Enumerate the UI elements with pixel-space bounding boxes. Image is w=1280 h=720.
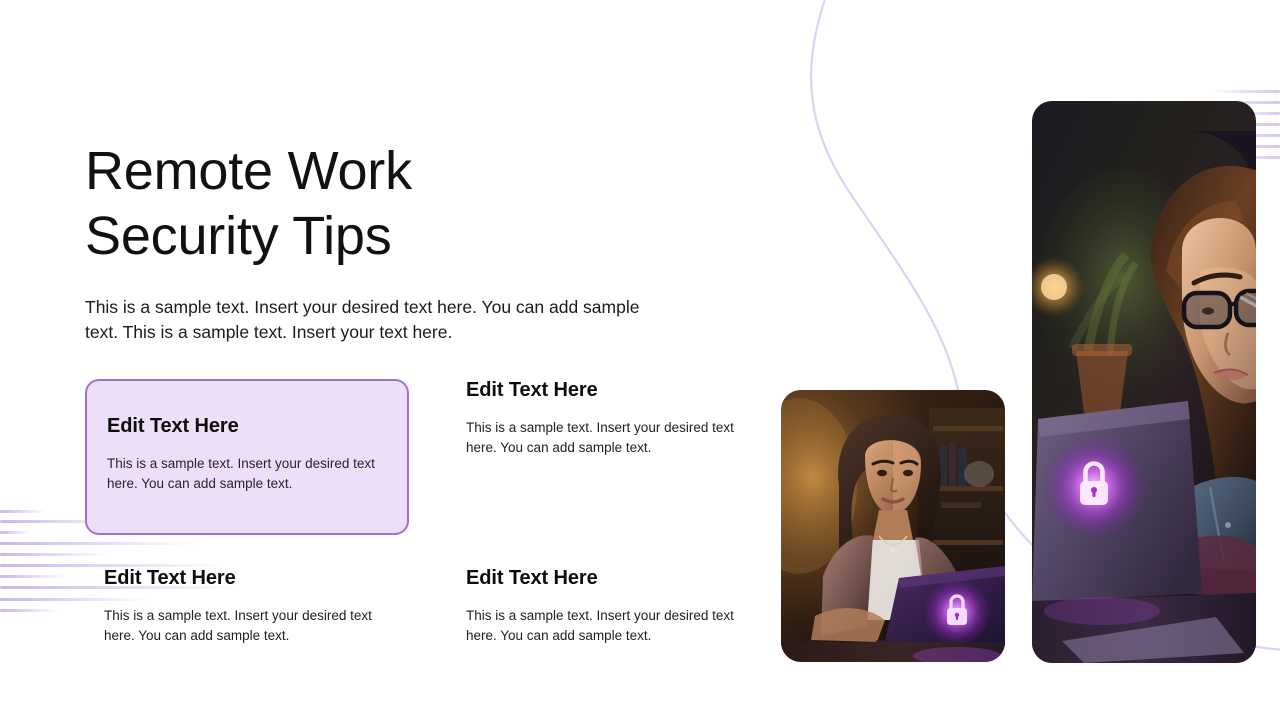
page-title-line-1: Remote Work	[85, 141, 412, 201]
feature-card-1-body: This is a sample text. Insert your desir…	[107, 454, 391, 493]
feature-card-3-heading: Edit Text Here	[104, 567, 409, 590]
image-woman-at-laptop-with-glowing-padlock	[781, 390, 1005, 662]
feature-card-3[interactable]: Edit Text Here This is a sample text. In…	[85, 567, 409, 645]
feature-card-2-heading: Edit Text Here	[466, 379, 771, 402]
feature-card-2[interactable]: Edit Text Here This is a sample text. In…	[447, 379, 771, 457]
feature-card-4[interactable]: Edit Text Here This is a sample text. In…	[447, 567, 771, 645]
feature-card-1[interactable]: Edit Text Here This is a sample text. In…	[85, 379, 409, 535]
feature-card-4-heading: Edit Text Here	[466, 567, 771, 590]
feature-card-4-body: This is a sample text. Insert your desir…	[466, 606, 756, 645]
page-subtitle: This is a sample text. Insert your desir…	[85, 295, 660, 345]
feature-grid: Edit Text Here This is a sample text. In…	[85, 379, 765, 669]
image-woman-with-glasses-at-laptop-night	[1032, 101, 1256, 663]
slide-canvas: Remote Work Security Tips This is a samp…	[0, 0, 1280, 720]
page-title: Remote Work Security Tips	[85, 139, 705, 269]
feature-card-2-body: This is a sample text. Insert your desir…	[466, 418, 756, 457]
page-title-line-2: Security Tips	[85, 204, 705, 269]
feature-card-3-body: This is a sample text. Insert your desir…	[104, 606, 394, 645]
feature-card-1-heading: Edit Text Here	[107, 415, 387, 438]
